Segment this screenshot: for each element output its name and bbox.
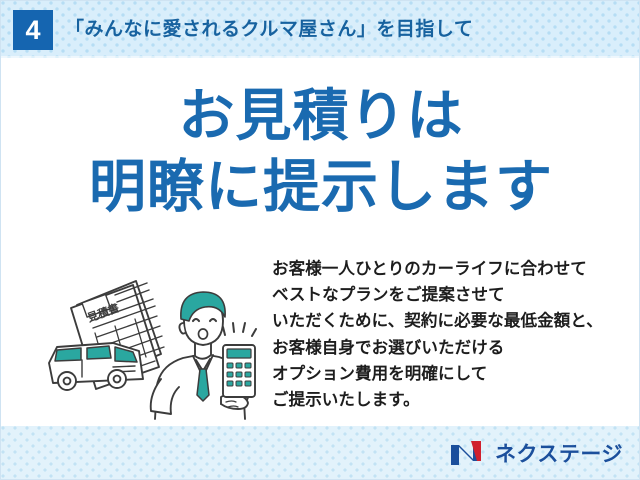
illustration-salesman-quotation-van: 見積書 [43, 259, 271, 424]
illustration-artwork: 見積書 [43, 259, 271, 424]
brand-lockup: ネクステージ [449, 438, 623, 468]
copy-line-1: お客様一人ひとりのカーライフに合わせて [272, 256, 627, 282]
copy-line-4: お客様自身でお選びいただける [272, 335, 627, 361]
headline-line-2: 明瞭に提示します [1, 156, 640, 220]
sparkle-icon [223, 323, 256, 336]
nextage-n-logo-icon [449, 439, 487, 467]
copy-line-6: ご提示いたします。 [272, 387, 627, 413]
copy-line-2: ベストなプランをご提案させて [272, 282, 627, 308]
copy-line-3: いただくために、契約に必要な最低金額と、 [272, 308, 627, 334]
footer-band: ネクステージ [1, 426, 640, 479]
copy-line-5: オプション費用を明確にして [272, 361, 627, 387]
promo-banner: 4 「みんなに愛されるクルマ屋さん」を目指して お見積りは 明瞭に提示します [0, 0, 640, 480]
header-title: 「みんなに愛されるクルマ屋さん」を目指して [65, 14, 473, 41]
calculator-icon [223, 345, 255, 397]
header-band: 4 「みんなに愛されるクルマ屋さん」を目指して [1, 1, 640, 58]
headline-line-1: お見積りは [1, 85, 640, 148]
headline: お見積りは 明瞭に提示します [1, 85, 640, 220]
body-copy: お客様一人ひとりのカーライフに合わせて ベストなプランをご提案させて いただくた… [272, 256, 627, 413]
brand-name: ネクステージ [495, 438, 623, 468]
step-number-badge: 4 [13, 10, 53, 50]
